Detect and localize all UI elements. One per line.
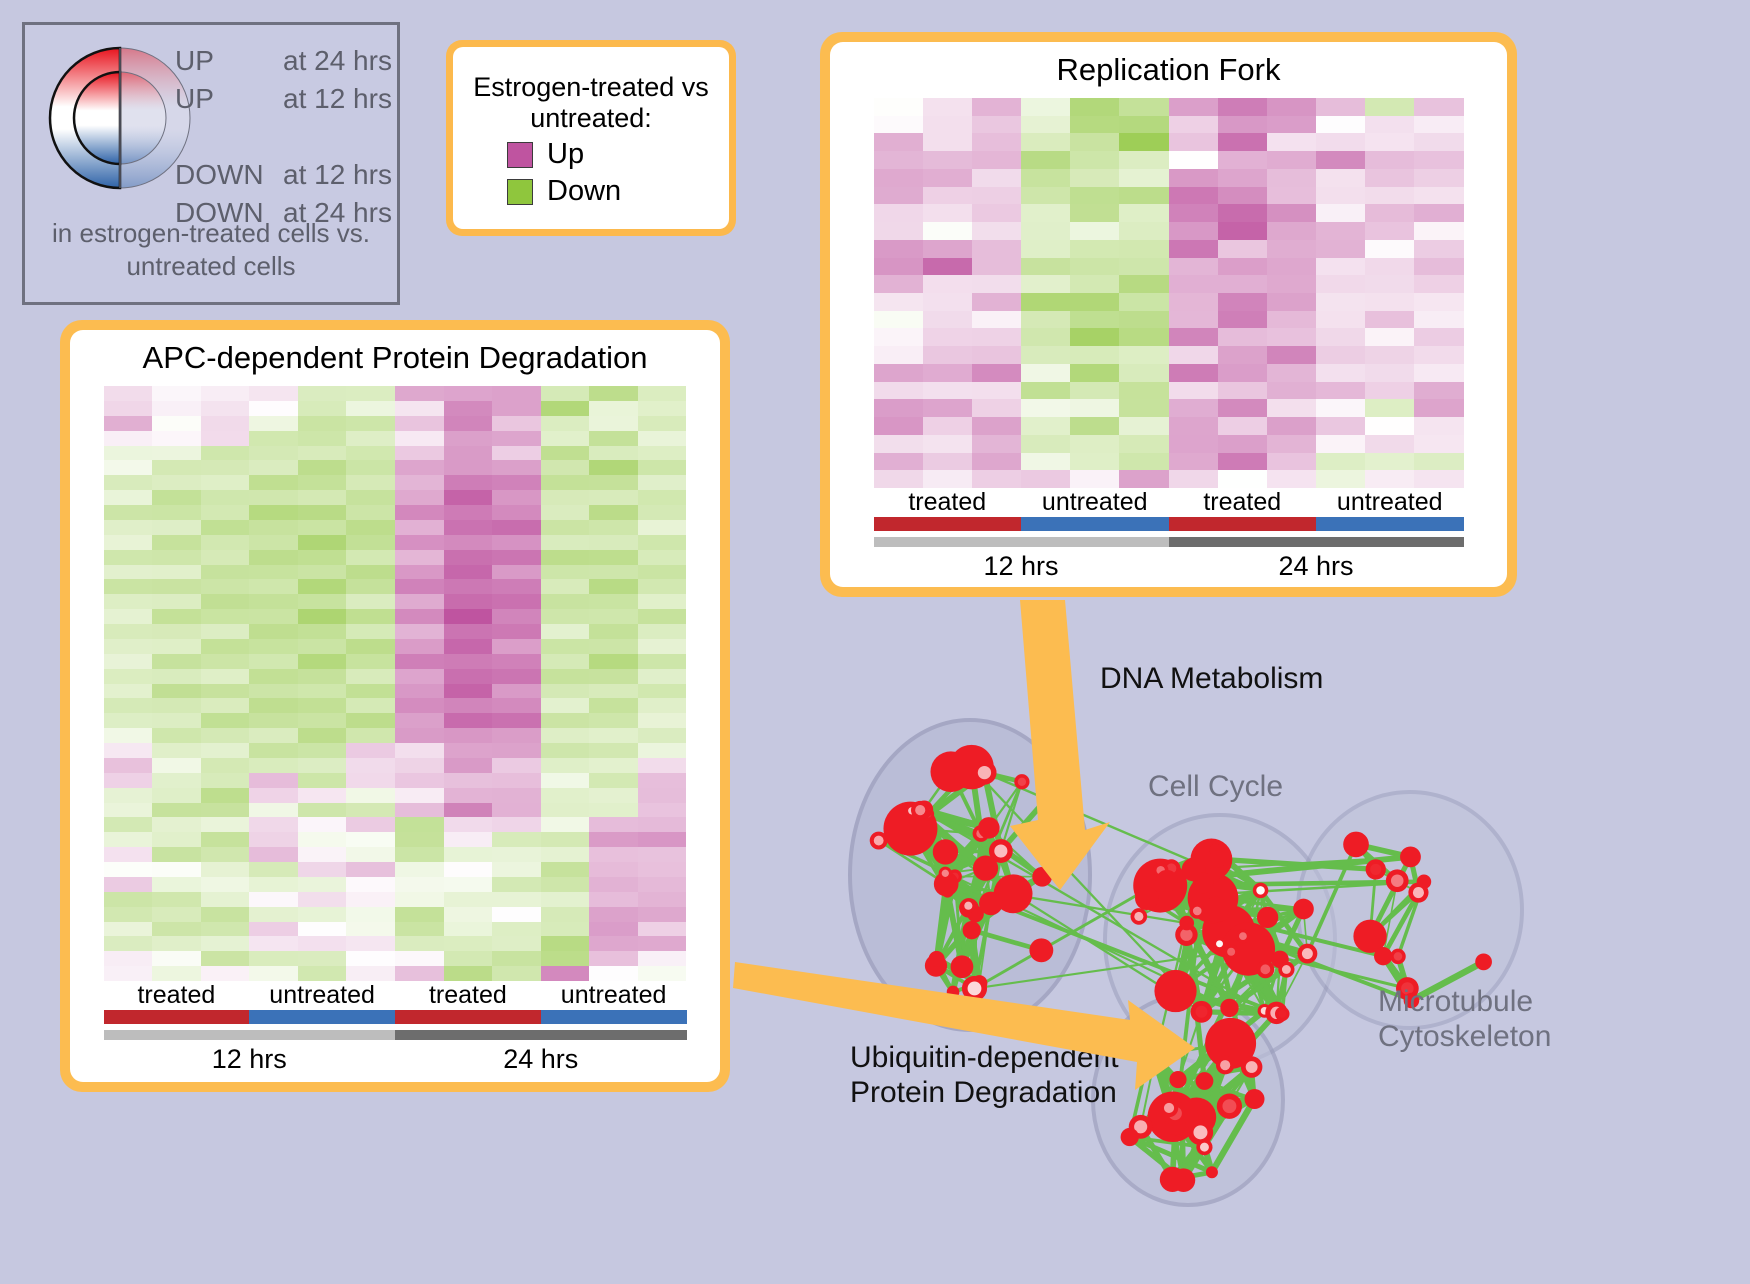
heatmap-cell [104,505,153,520]
heatmap-cell [1021,240,1070,258]
heatmap-cell [1267,169,1316,187]
heatmap-cell [1316,187,1365,205]
heatmap-cell [492,817,541,832]
heatmap-cell [638,713,687,728]
network-node[interactable] [1121,1128,1139,1146]
network-node[interactable] [1253,883,1269,899]
heatmap-cell [874,346,923,364]
heatmap-cell [1316,417,1365,435]
heatmap-cell [104,922,153,937]
network-node[interactable] [1193,873,1214,894]
network-node[interactable] [1213,938,1226,951]
heatmap-cell [346,446,395,461]
heatmap-cell [298,936,347,951]
network-node[interactable] [1293,899,1314,920]
heatmap-cell [1365,417,1414,435]
heatmap-cell [1267,417,1316,435]
network-node[interactable] [1209,850,1227,868]
heatmap-cell [298,416,347,431]
heatmap-cell [104,639,153,654]
time-label: 24 hrs [1169,547,1464,582]
heatmap-cell [152,535,201,550]
heatmap-cell [1316,311,1365,329]
heatmap-cell [249,609,298,624]
group-colorbar-segment [1021,517,1169,531]
updown-legend-item-down: Down [507,175,675,208]
network-node-core [1391,874,1404,887]
heatmap-cell [638,907,687,922]
time-label: 24 hrs [395,1040,687,1075]
heatmap-cell [1267,435,1316,453]
heatmap-cell [541,669,590,684]
heatmap-cell [201,936,250,951]
network-node[interactable] [1196,1139,1212,1155]
heatmap-cell [492,475,541,490]
heatmap-cell [152,907,201,922]
heatmap-cell [152,922,201,937]
heatmap-cell [972,187,1021,205]
heatmap-cell [1070,453,1119,471]
group-label: treated [104,981,250,1010]
network-node[interactable] [947,986,960,999]
panel-title: Replication Fork [1057,52,1281,88]
network-node-ring [1400,846,1421,867]
network-node[interactable] [1475,953,1492,970]
heatmap-cell [346,490,395,505]
colorwheel-tag: UP [175,85,283,113]
heatmap-cell [298,684,347,699]
heatmap-cell [1414,435,1463,453]
network-node-ring [1179,916,1194,931]
heatmap-cell [1316,151,1365,169]
heatmap-cell [923,399,972,417]
panel-replication-fork: Replication Fork treateduntreatedtreated… [820,32,1517,597]
heatmap-cell [589,446,638,461]
heatmap-cell [201,550,250,565]
heatmap-cell [638,579,687,594]
heatmap-cell [874,382,923,400]
cluster-label-cell-cycle: Cell Cycle [1148,770,1283,804]
heatmap-cell [201,609,250,624]
heatmap-cell [1070,311,1119,329]
network-node[interactable] [1236,929,1250,943]
network-node[interactable] [929,951,945,967]
network-node[interactable] [1029,938,1053,962]
network-node[interactable] [1366,859,1386,879]
network-node[interactable] [1143,1043,1167,1067]
network-node-core [1260,964,1270,974]
heatmap-cell [346,817,395,832]
heatmap-cell [201,847,250,862]
heatmap-cell [201,446,250,461]
heatmap-cell [923,435,972,453]
heatmap-cell [1267,382,1316,400]
heatmap-cell [346,594,395,609]
heatmap-cell [1021,169,1070,187]
heatmap-cell [1414,328,1463,346]
heatmap-cell [201,535,250,550]
network-node[interactable] [951,955,974,978]
heatmap-cell [249,788,298,803]
heatmap-cell [1021,382,1070,400]
network-node[interactable] [973,856,998,881]
updown-legend-panel: Estrogen-treated vs untreated: Up Down [446,40,736,236]
network-node[interactable] [1135,886,1159,910]
network-node[interactable] [1400,846,1421,867]
colorwheel-tag: DOWN [175,161,283,189]
heatmap-cell [923,328,972,346]
network-node[interactable] [972,761,996,785]
network-node[interactable] [1257,907,1278,928]
heatmap-cell [638,743,687,758]
network-node[interactable] [1196,1072,1214,1090]
heatmap-cell [1316,116,1365,134]
heatmap-cell [346,609,395,624]
heatmap-cell [1169,222,1218,240]
network-node-core [1394,952,1403,961]
heatmap-cell [541,951,590,966]
network-node[interactable] [961,898,976,913]
network-node-ring [1154,970,1196,1012]
heatmap-cell [249,520,298,535]
network-node[interactable] [978,817,1000,839]
network-node[interactable] [1189,903,1205,919]
heatmap-cell [1169,293,1218,311]
heatmap-cell [1414,382,1463,400]
heatmap-cell [492,460,541,475]
network-node[interactable] [1169,1071,1186,1088]
heatmap-cell [1119,151,1168,169]
network-node[interactable] [1297,944,1317,964]
heatmap-cell [249,728,298,743]
heatmap-cell [152,966,201,981]
cluster-label-dna-metabolism: DNA Metabolism [1100,662,1323,696]
heatmap-cell [1070,151,1119,169]
network-node[interactable] [1256,960,1274,978]
heatmap-cell [298,475,347,490]
heatmap-cell [1316,346,1365,364]
heatmap-cell [541,877,590,892]
heatmap-cell [298,803,347,818]
heatmap-cell [395,386,444,401]
heatmap-cell [541,743,590,758]
heatmap-cell [1365,346,1414,364]
heatmap-cell [1169,417,1218,435]
heatmap-cell [346,520,395,535]
heatmap-cell [923,346,972,364]
heatmap-cell [104,758,153,773]
network-node[interactable] [962,976,987,1001]
heatmap-cell [541,698,590,713]
heatmap-cell [346,936,395,951]
heatmap-cell [1119,470,1168,488]
heatmap-cell [1119,399,1168,417]
heatmap-cell [1267,116,1316,134]
heatmap-cell [201,594,250,609]
heatmap-cell [1169,258,1218,276]
network-node-core [1302,948,1313,959]
heatmap-cell [492,877,541,892]
heatmap-cell [201,475,250,490]
network-node-ring [1169,1071,1186,1088]
heatmap-cell [249,817,298,832]
heatmap-cell [104,431,153,446]
heatmap-cell [638,966,687,981]
network-node-ring [1206,1166,1218,1178]
heatmap-cell [249,431,298,446]
network-node[interactable] [1179,916,1194,931]
heatmap-cell [395,446,444,461]
heatmap-cell [395,966,444,981]
heatmap-cell [1267,346,1316,364]
heatmap-cell [152,639,201,654]
heatmap-cell [1316,204,1365,222]
heatmap-cell [249,698,298,713]
heatmap-cell [201,669,250,684]
heatmap-cell [923,133,972,151]
group-colorbar-segment [874,517,1022,531]
heatmap-cell [638,446,687,461]
heatmap-cell [1267,222,1316,240]
network-node-ring [1029,938,1053,962]
heatmap-cell [638,609,687,624]
heatmap-cell [874,98,923,116]
colorwheel-caption: in estrogen-treated cells vs. untreated … [25,217,397,282]
heatmap-cell [1218,293,1267,311]
heatmap-cell [152,773,201,788]
network-node[interactable] [1014,774,1029,789]
heatmap-cell [346,728,395,743]
network-node[interactable] [1156,870,1178,892]
heatmap-cell [541,431,590,446]
heatmap-cell [541,862,590,877]
heatmap-cell [541,594,590,609]
heatmap-cell [638,550,687,565]
network-node-ring [1156,870,1178,892]
heatmap-cell [395,862,444,877]
heatmap-cell [444,817,493,832]
heatmap-cell [541,684,590,699]
heatmap-cell [638,936,687,951]
heatmap-cell [1070,187,1119,205]
heatmap-cell [346,907,395,922]
network-node[interactable] [1220,999,1238,1017]
heatmap-cell [589,877,638,892]
heatmap-cell [104,892,153,907]
heatmap-cell [444,684,493,699]
network-node[interactable] [911,801,929,819]
heatmap-cell [1070,240,1119,258]
heatmap-cell [152,460,201,475]
heatmap-cell [1267,453,1316,471]
heatmap-cell [152,565,201,580]
network-node[interactable] [963,921,981,939]
network-node[interactable] [1390,949,1405,964]
heatmap-cell [1365,382,1414,400]
heatmap-cell [249,922,298,937]
heatmap-cell [249,907,298,922]
network-node[interactable] [1275,1007,1290,1022]
heatmap-cell [201,907,250,922]
heatmap-cell [1169,240,1218,258]
heatmap-cell [1267,311,1316,329]
network-node[interactable] [1386,869,1409,892]
network-node[interactable] [1038,792,1053,807]
network-node-core [1282,965,1291,974]
network-node[interactable] [1241,1056,1263,1078]
heatmap-cell [972,151,1021,169]
heatmap-cell [1119,240,1168,258]
network-node-core [1193,1125,1207,1139]
heatmap-cell [923,453,972,471]
heatmap-cell [346,758,395,773]
heatmap-cell [395,654,444,669]
heatmap-cell [298,401,347,416]
heatmap-cell [152,892,201,907]
network-node[interactable] [1154,970,1196,1012]
network-node-core [1278,1010,1286,1018]
heatmap-cell [589,579,638,594]
heatmap-cell [1414,98,1463,116]
heatmap-cell [1070,222,1119,240]
network-node-ring [1193,873,1214,894]
heatmap-cell [541,654,590,669]
panel-apc-dependent-protein-degradation: APC-dependent Protein Degradation treate… [60,320,730,1092]
heatmap-cell [395,520,444,535]
group-colorbar-segment [541,1010,687,1024]
heatmap-cell [923,275,972,293]
heatmap-cell [1267,328,1316,346]
heatmap-cell [1365,470,1414,488]
network-node[interactable] [939,867,952,880]
heatmap-cell [541,535,590,550]
heatmap-cell [638,922,687,937]
heatmap-cell [1169,275,1218,293]
heatmap-cell [201,698,250,713]
heatmap-cell [104,877,153,892]
network-node[interactable] [1131,908,1148,925]
heatmap-cell [249,936,298,951]
heatmap-cell [444,535,493,550]
network-node[interactable] [870,832,888,850]
network-node[interactable] [1032,867,1052,887]
heatmap-cell [298,877,347,892]
network-node[interactable] [1408,883,1428,903]
heatmap-cell [104,535,153,550]
heatmap-cell [874,240,923,258]
heatmap-cell [104,847,153,862]
network-node[interactable] [933,839,958,864]
heatmap-cell [589,624,638,639]
heatmap-cell [1414,417,1463,435]
heatmap-cell [1414,151,1463,169]
heatmap-cell [874,151,923,169]
updown-legend-item-up: Up [507,138,675,171]
heatmap-cell [1070,258,1119,276]
heatmap-cell [1021,204,1070,222]
heatmap-cell [638,505,687,520]
heatmap-cell [1316,169,1365,187]
heatmap-cell [298,713,347,728]
network-node[interactable] [1206,1166,1218,1178]
heatmap-cell [1119,293,1168,311]
heatmap-cell [104,654,153,669]
heatmap-cell [1169,133,1218,151]
network-node-ring [929,951,945,967]
network-node[interactable] [1203,897,1229,923]
heatmap-cell [638,951,687,966]
network-node[interactable] [1172,1168,1196,1192]
network-node[interactable] [930,751,971,792]
heatmap-cell [444,877,493,892]
heatmap-cell [1021,364,1070,382]
heatmap-cell [395,817,444,832]
heatmap-cell [104,743,153,758]
heatmap-cell [1070,204,1119,222]
heatmap-cell [1267,275,1316,293]
network-node[interactable] [1217,1094,1242,1119]
heatmap-cell [201,892,250,907]
heatmap-axis-apc: treateduntreatedtreateduntreated 12 hrs2… [104,981,687,1075]
heatmap-cell [1070,328,1119,346]
network-node[interactable] [1343,832,1369,858]
heatmap-cell [492,788,541,803]
heatmap-cell [1070,417,1119,435]
heatmap-cell [1070,470,1119,488]
network-node[interactable] [1374,947,1392,965]
heatmap-cell [395,505,444,520]
heatmap-cell [298,892,347,907]
heatmap-cell [492,550,541,565]
heatmap-cell [298,609,347,624]
heatmap-cell [541,847,590,862]
heatmap-cell [249,460,298,475]
network-node[interactable] [1191,1001,1213,1023]
network-node-core [1193,907,1202,916]
heatmap-cell [638,758,687,773]
heatmap-cell [923,222,972,240]
heatmap-cell [444,773,493,788]
heatmap-cell [492,743,541,758]
heatmap-cell [298,669,347,684]
network-node[interactable] [1216,1056,1234,1074]
network-node[interactable] [1278,961,1294,977]
heatmap-cell [395,922,444,937]
network-node[interactable] [1245,1089,1265,1109]
heatmap-cell [638,416,687,431]
heatmap-cell [492,832,541,847]
colorwheel-row: UP at 24 hrs [175,47,405,75]
network-node[interactable] [1160,1099,1179,1118]
network-node[interactable] [1224,944,1239,959]
heatmap-cell [1119,453,1168,471]
network-node-ring [1293,899,1314,920]
network-node-ring [1343,832,1369,858]
heatmap-cell [152,624,201,639]
heatmap-cell [541,550,590,565]
heatmap-cell [874,399,923,417]
heatmap-cell [492,416,541,431]
heatmap-cell [589,966,638,981]
network-node-core [1216,940,1223,947]
heatmap-cell [346,639,395,654]
network-node-ring [1257,907,1278,928]
heatmap-cell [589,386,638,401]
heatmap-cell [1267,133,1316,151]
heatmap-cell [1021,417,1070,435]
network-node-core [1042,795,1050,803]
heatmap-cell [589,922,638,937]
